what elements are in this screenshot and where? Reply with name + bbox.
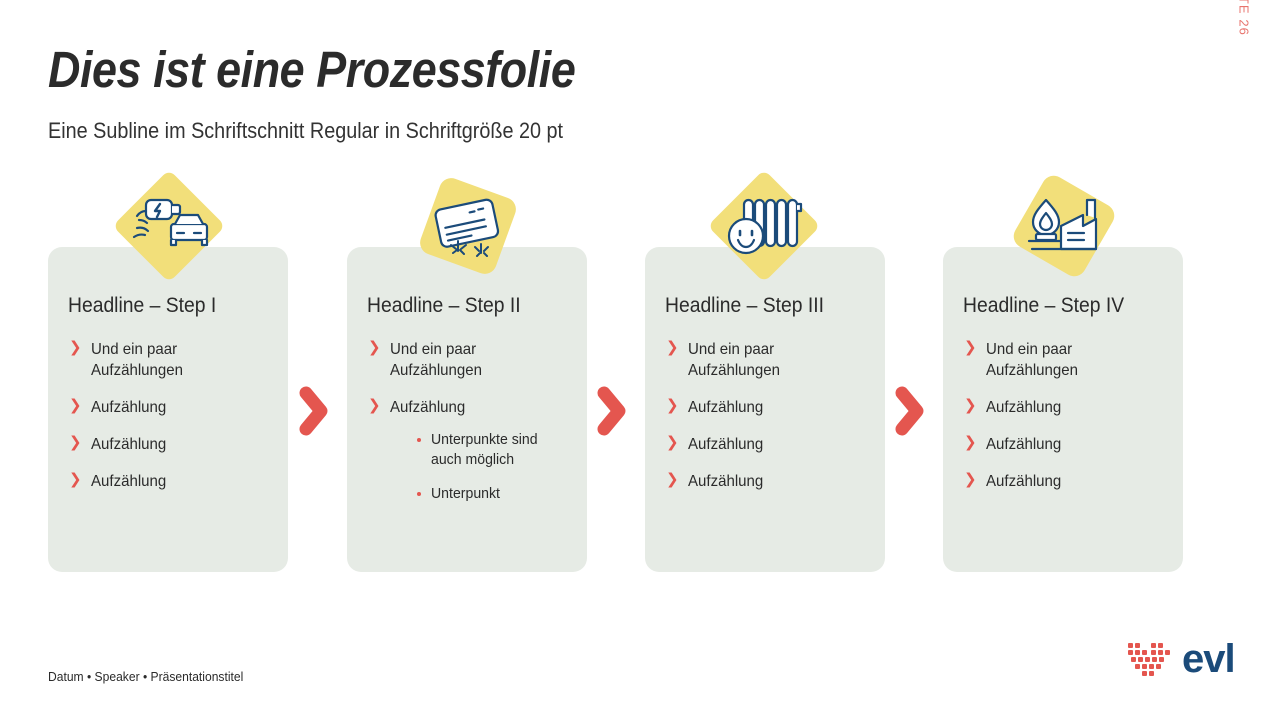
list-item-label: Aufzählung [986,397,1160,418]
step-card-1-bullets: ❯ Und ein paar Aufzählungen ❯ Aufzählung… [68,339,276,508]
footer-meta: Datum • Speaker • Präsentationstitel [48,668,243,686]
list-item-label: Und ein paar Aufzählungen [91,339,265,381]
step-arrow-1 [297,385,331,437]
chevron-right-icon: ❯ [964,340,974,356]
step-arrow-3 [893,385,927,437]
list-item: ❯ Und ein paar Aufzählungen [367,339,575,381]
heart-dots-icon [1126,641,1174,679]
step-card-1-headline: Headline – Step I [68,293,258,319]
sub-list-item-label: Unterpunkt [431,484,566,504]
list-item-label: Aufzählung [688,471,862,492]
list-item: ❯ Aufzählung [963,434,1171,455]
list-item: ❯ Und ein paar Aufzählungen [68,339,276,381]
step-card-2-bullets: ❯ Und ein paar Aufzählungen ❯ Aufzählung… [367,339,575,520]
chevron-right-icon: ❯ [69,435,79,451]
step-2-badge [420,178,516,274]
evl-logo: evl [1126,637,1250,681]
step-4-badge [1016,178,1112,274]
list-item-label: Aufzählung [91,397,265,418]
step-card-1[interactable]: Headline – Step I ❯ Und ein paar Aufzähl… [48,247,288,572]
list-item-label: Aufzählung [986,434,1160,455]
list-item: ❯ Aufzählung [68,471,276,492]
list-item-label: Und ein paar Aufzählungen [390,339,564,381]
sub-list: Unterpunkte sind auch möglich Unterpunkt [415,430,575,504]
sub-list-item: Unterpunkt [415,484,575,504]
sparkling-card-icon [420,178,516,274]
sub-list-item-label: Unterpunkte sind auch möglich [431,430,566,470]
list-item-label: Und ein paar Aufzählungen [688,339,862,381]
list-item: ❯ Aufzählung [68,397,276,418]
chevron-right-icon: ❯ [69,472,79,488]
step-arrow-2 [595,385,629,437]
chevron-right-icon: ❯ [666,435,676,451]
list-item-label: Aufzählung [91,471,265,492]
sub-list-item: Unterpunkte sind auch möglich [415,430,575,470]
list-item: ❯ Aufzählung [665,471,873,492]
step-card-2-headline: Headline – Step II [367,293,557,319]
happy-radiator-icon [716,178,812,274]
chevron-right-icon: ❯ [964,472,974,488]
chevron-right-icon [297,385,331,437]
chevron-right-icon: ❯ [964,435,974,451]
list-item: ❯ Aufzählung [665,397,873,418]
list-item: ❯ Aufzählung [665,434,873,455]
chevron-right-icon: ❯ [69,340,79,356]
list-item: ❯ Aufzählung Unterpunkte sind auch mögli… [367,397,575,504]
dot-bullet-icon [417,438,421,442]
step-card-3-bullets: ❯ Und ein paar Aufzählungen ❯ Aufzählung… [665,339,873,508]
step-card-2[interactable]: Headline – Step II ❯ Und ein paar Aufzäh… [347,247,587,572]
step-card-4-headline: Headline – Step IV [963,293,1153,319]
list-item-label: Und ein paar Aufzählungen [986,339,1160,381]
chevron-right-icon: ❯ [666,398,676,414]
list-item-label: Aufzählung [91,434,265,455]
step-card-3-headline: Headline – Step III [665,293,855,319]
list-item: ❯ Aufzählung [68,434,276,455]
step-card-4-bullets: ❯ Und ein paar Aufzählungen ❯ Aufzählung… [963,339,1171,508]
chevron-right-icon [595,385,629,437]
ev-charging-icon [121,178,217,274]
list-item-label: Aufzählung [688,434,862,455]
gas-flame-factory-icon [1016,178,1112,274]
process-steps-row: Headline – Step I ❯ Und ein paar Aufzähl… [0,0,1280,720]
list-item: ❯ Und ein paar Aufzählungen [665,339,873,381]
step-card-3[interactable]: Headline – Step III ❯ Und ein paar Aufzä… [645,247,885,572]
list-item-label: Aufzählung [986,471,1160,492]
chevron-right-icon: ❯ [666,340,676,356]
chevron-right-icon: ❯ [368,398,378,414]
list-item: ❯ Aufzählung [963,471,1171,492]
list-item: ❯ Und ein paar Aufzählungen [963,339,1171,381]
chevron-right-icon: ❯ [69,398,79,414]
chevron-right-icon: ❯ [964,398,974,414]
list-item-label: Aufzählung [390,397,564,418]
dot-bullet-icon [417,492,421,496]
list-item-label: Aufzählung [688,397,862,418]
list-item: ❯ Aufzählung [963,397,1171,418]
chevron-right-icon [893,385,927,437]
step-1-badge [121,178,217,274]
slide-canvas: Dies ist eine Prozessfolie Eine Subline … [0,0,1280,720]
evl-wordmark: evl [1182,637,1235,681]
chevron-right-icon: ❯ [666,472,676,488]
step-3-badge [716,178,812,274]
step-card-4[interactable]: Headline – Step IV ❯ Und ein paar Aufzäh… [943,247,1183,572]
chevron-right-icon: ❯ [368,340,378,356]
